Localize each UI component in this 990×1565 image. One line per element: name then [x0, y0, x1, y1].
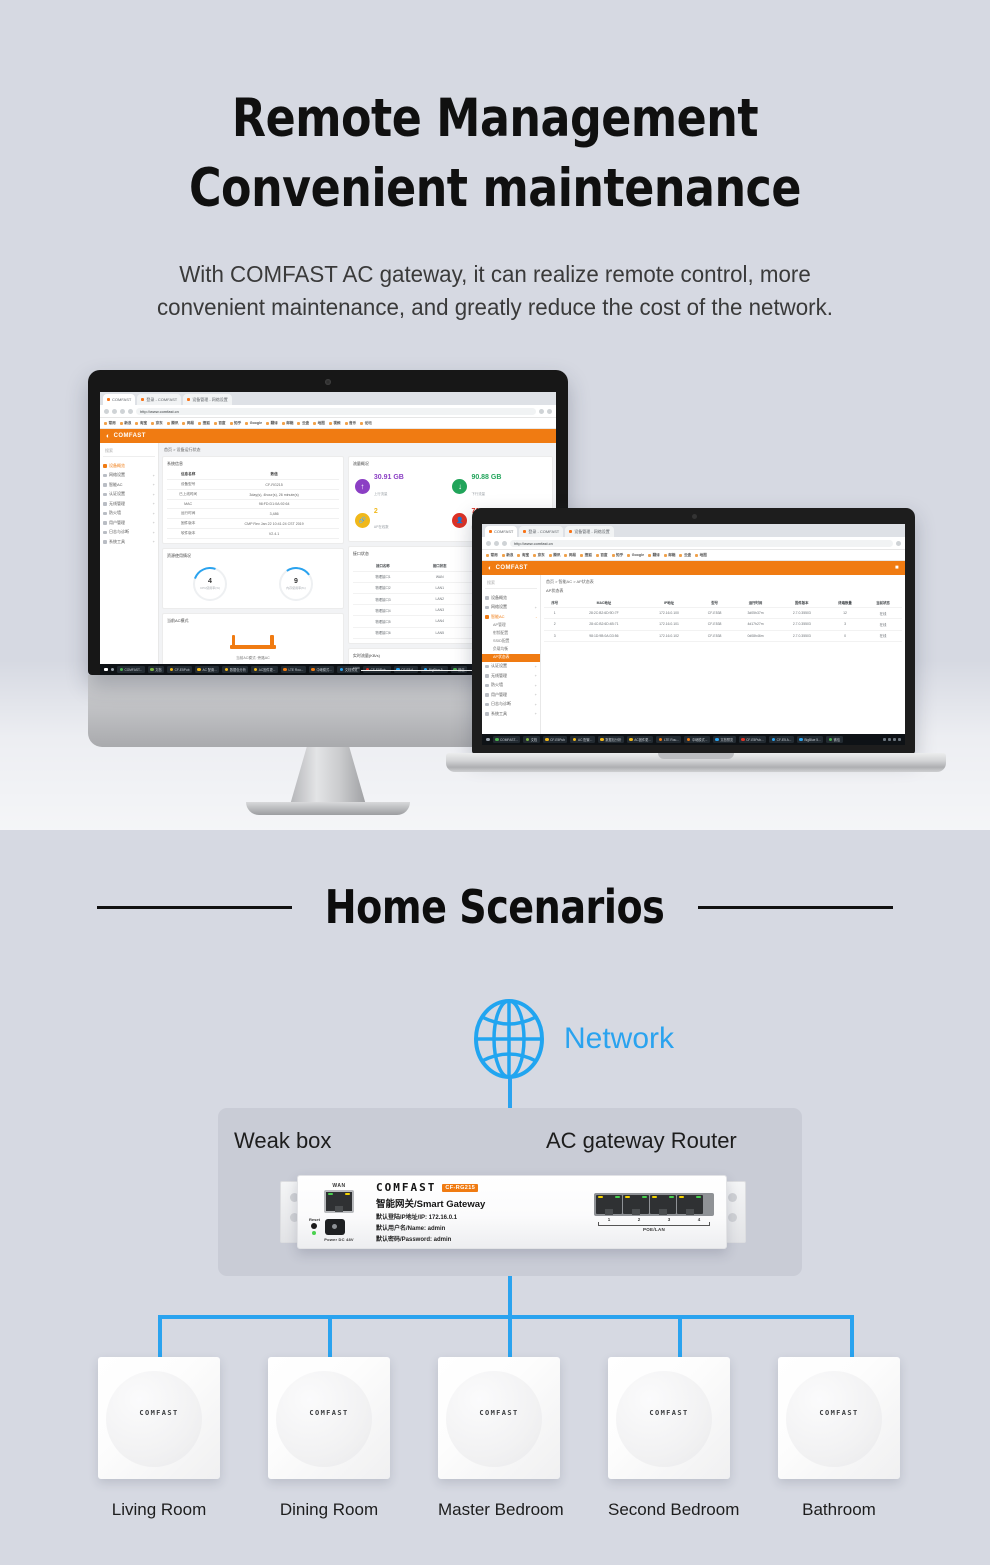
bookmark-item[interactable]: 百度: [596, 553, 608, 558]
overview-icon: [103, 464, 107, 468]
ap-room-label: Master Bedroom: [438, 1500, 560, 1520]
laptop-base: [446, 753, 946, 772]
stat-label: 下行流量: [471, 492, 485, 496]
app-sidebar: 搜索 设备概览 网络设置 +: [100, 443, 159, 664]
chevron-down-icon: +: [153, 520, 155, 525]
access-point-second-bedroom: COMFAST Second Bedroom: [608, 1357, 730, 1520]
bookmark-icon: [517, 554, 520, 557]
sidebar-item-firewall[interactable]: 防火墙 +: [482, 681, 540, 691]
led-green-icon: [615, 1196, 620, 1199]
led-green-icon: [328, 1193, 333, 1196]
bookmark-item[interactable]: 腾讯: [549, 553, 561, 558]
app-header: ◐ COMFAST: [100, 429, 556, 443]
breadcrumb: 首页 > 设备运行状态: [164, 447, 553, 453]
cpu-gauge: 4 CPU使用率(%): [193, 567, 227, 601]
sidebar-item-users[interactable]: 用户管理 +: [482, 690, 540, 700]
access-point-master-bedroom: COMFAST Master Bedroom: [438, 1357, 560, 1520]
bookmark-icon: [135, 422, 138, 425]
sidebar-item-tools[interactable]: 系统工具 +: [482, 709, 540, 719]
bookmark-item[interactable]: 邮箱: [664, 553, 676, 558]
address-bar-value: http://www.comfast.cn: [140, 409, 179, 414]
sidebar-item-overview[interactable]: 设备概览: [482, 593, 540, 603]
router-default-ip: 默认登陆IP地址/IP: 172.16.0.1: [376, 1212, 594, 1221]
bookmark-item[interactable]: 地图: [695, 553, 707, 558]
app-brand-label: COMFAST: [114, 433, 146, 439]
log-icon: [103, 531, 107, 535]
globe-icon: [472, 998, 546, 1080]
taskbar-item[interactable]: BigBlue 5...: [797, 736, 823, 744]
page-root: Remote Management Convenient maintenance…: [0, 0, 990, 1565]
tree-drop-line-3: [508, 1315, 512, 1360]
dc-power-jack: [325, 1219, 345, 1235]
ap-panel: COMFAST: [438, 1357, 560, 1479]
bookmark-icon: [120, 422, 123, 425]
rack-hole-icon: [728, 1213, 737, 1222]
taskbar-item[interactable]: COMFAST...: [493, 736, 521, 744]
column-header: IP地址: [642, 597, 695, 608]
ac-icon: [103, 483, 107, 487]
column-header: 终端数量: [826, 597, 864, 608]
bookmark-icon: [664, 554, 667, 557]
bookmark-icon: [564, 554, 567, 557]
reset-button[interactable]: [311, 1223, 317, 1229]
bookmark-item[interactable]: 翻译: [648, 553, 660, 558]
stat-ap-online: 🔗 2 AP在线数: [353, 504, 451, 538]
sidebar-item-label: 网络设置: [109, 472, 125, 478]
sidebar-item-wireless[interactable]: 无线管理 +: [482, 671, 540, 681]
bookmark-item[interactable]: 淘宝: [135, 421, 147, 426]
taskbar-item[interactable]: LTE Rou...: [656, 736, 681, 744]
sidebar-item-smart-ac[interactable]: 智能AC +: [100, 480, 158, 490]
bookmark-item[interactable]: 搜狐: [198, 421, 210, 426]
address-bar-value: http://www.comfast.cn: [514, 541, 553, 546]
table-row: 228:4C:B2:6D:4B:71 172.16.0.101CF-E538 4…: [544, 619, 902, 630]
bookmark-item[interactable]: 网易: [182, 421, 194, 426]
shield-icon: [103, 512, 107, 516]
bookmark-item[interactable]: 淘宝: [517, 553, 529, 558]
bookmark-icon: [151, 422, 154, 425]
device-showcase: COMFAST 登录 - COMFAST 设备管理 - 网络设置: [0, 360, 990, 830]
stat-value: 90.88 GB: [471, 474, 501, 482]
breadcrumb: 首页 > 智能AC > AP状态表: [546, 579, 902, 585]
bookmark-icon: [345, 422, 348, 425]
ap-panel: COMFAST: [268, 1357, 390, 1479]
app-header: ◐ COMFAST ■: [482, 561, 905, 575]
app-body: 搜索 设备概览 网络设置 +: [482, 575, 905, 734]
sidebar-item-label: 设备概览: [109, 463, 125, 469]
sidebar-item-label: 网络设置: [491, 604, 507, 610]
ac-gateway-router-label: AC gateway Router: [546, 1128, 737, 1154]
address-bar[interactable]: http://www.comfast.cn: [510, 540, 893, 547]
taskbar-item[interactable]: LTE Rou...: [281, 666, 306, 674]
browser-tab-label: 登录 - COMFAST: [146, 397, 177, 403]
menu-icon[interactable]: [896, 541, 901, 546]
user-icon: [103, 521, 107, 525]
user-icon: [485, 693, 489, 697]
browser-tab-label: 设备管理 - 网络设置: [192, 397, 228, 403]
lan-bracket-icon: [598, 1222, 710, 1226]
laptop: COMFAST 登录 - COMFAST 设备管理 - 网络设置: [446, 508, 946, 772]
taskbar-item[interactable]: AC固件更...: [251, 666, 278, 674]
access-point-dining-room: COMFAST Dining Room: [268, 1357, 390, 1520]
bookmark-icon: [198, 422, 201, 425]
sidebar-item-logs[interactable]: 日志与诊断 +: [482, 700, 540, 710]
webcam-icon: [692, 514, 697, 519]
gauge-arc: [276, 564, 315, 603]
ac-mode-diagram: 当前AC模式: 旁路AC: [167, 627, 339, 667]
page-subtitle: With COMFAST AC gateway, it can realize …: [68, 258, 922, 325]
browser-tab[interactable]: COMFAST: [103, 394, 135, 405]
bookmark-icon: [596, 554, 599, 557]
reload-icon[interactable]: [502, 541, 507, 546]
bookmark-item[interactable]: 翻译: [266, 421, 278, 426]
table-row: MAC98:FD:D1:0A:92:64: [167, 500, 339, 509]
memory-gauge: 9 内存使用率(%): [279, 567, 313, 601]
system-tray[interactable]: [883, 738, 901, 741]
ac-mode-caption: 当前AC模式: 旁路AC: [236, 656, 270, 661]
browser-tab[interactable]: COMFAST: [485, 526, 517, 537]
sidebar-item-label: 智能AC: [109, 482, 123, 488]
bookmark-icon: [695, 554, 698, 557]
sidebar-item-users[interactable]: 用户管理 +: [100, 518, 158, 528]
bookmark-item[interactable]: 知乎: [230, 421, 242, 426]
section-title: Home Scenarios: [325, 880, 665, 934]
port-status-title: 接口状态: [353, 551, 369, 557]
stat-download: ↓ 90.88 GB 下行流量: [450, 470, 548, 504]
bookmark-icon: [502, 554, 505, 557]
taskbar-item[interactable]: 文档: [523, 736, 539, 744]
ap-brand-label: COMFAST: [608, 1409, 730, 1417]
sidebar-subitem-ssid[interactable]: SSID配置: [482, 638, 540, 646]
ap-disc: [106, 1371, 202, 1467]
access-point-bathroom: COMFAST Bathroom: [778, 1357, 900, 1520]
chevron-down-icon: +: [535, 683, 537, 688]
table-row: 128:2C:B2:6D:9D:7F 172.16.0.100CF-E538 3…: [544, 608, 902, 619]
bookmark-icon: [214, 422, 217, 425]
taskbar-item[interactable]: 文档预览: [713, 736, 736, 744]
bookmark-icon: [297, 422, 300, 425]
browser-tab[interactable]: 登录 - COMFAST: [519, 526, 563, 537]
menu-icon[interactable]: [547, 409, 552, 414]
chevron-down-icon: +: [153, 501, 155, 506]
ap-brand-label: COMFAST: [438, 1409, 560, 1417]
laptop-lid: COMFAST 登录 - COMFAST 设备管理 - 网络设置: [472, 508, 915, 754]
wan-label: WAN: [308, 1183, 370, 1189]
power-led-icon: [312, 1231, 316, 1235]
lan-port: [596, 1195, 622, 1214]
sidebar-subitem-radio[interactable]: 射频配置: [482, 630, 540, 638]
system-info-title: 系统信息: [167, 461, 339, 467]
lan-port: [650, 1195, 676, 1214]
led-green-icon: [642, 1196, 647, 1199]
bookmark-icon: [580, 554, 583, 557]
sidebar-item-tools[interactable]: 系统工具 +: [100, 537, 158, 547]
y-axis-tick: 1000: [353, 666, 360, 670]
table-header-row: 信息名称 数值: [167, 470, 339, 480]
router-model-badge: CF-RG215: [442, 1184, 478, 1192]
lan-port-number: 2: [638, 1217, 641, 1222]
bookmarks-bar: 常用 新浪 淘宝 京东 腾讯 网易 搜狐 百度 知乎 Google 翻译 邮箱 …: [100, 418, 556, 429]
led-yellow-icon: [598, 1196, 603, 1199]
table-row: 已上线时间3day(s), 4hour(s), 26 minute(s): [167, 490, 339, 500]
profile-icon[interactable]: [539, 409, 544, 414]
desktop-browser-tabstrip: COMFAST 登录 - COMFAST 设备管理 - 网络设置: [100, 392, 556, 405]
search-icon[interactable]: [486, 736, 490, 744]
address-bar[interactable]: http://www.comfast.cn: [136, 408, 536, 415]
tree-trunk-line: [508, 1276, 512, 1318]
start-button[interactable]: [104, 666, 108, 674]
bookmarks-bar: 常用 新浪 淘宝 京东 腾讯 网易 搜狐 百度 知乎 Google 翻译 邮箱 …: [482, 550, 905, 561]
bookmark-icon: [313, 422, 316, 425]
bookmark-item[interactable]: 搜狐: [580, 553, 592, 558]
laptop-browser-toolbar: http://www.comfast.cn: [482, 537, 905, 550]
taskbar-item[interactable]: AC 配置...: [195, 666, 219, 674]
taskbar-item[interactable]: 中继模式...: [684, 736, 709, 744]
bookmark-item[interactable]: 音乐: [345, 421, 357, 426]
sidebar-item-label: 无线管理: [491, 673, 507, 679]
weak-box-label: Weak box: [234, 1128, 331, 1154]
router-title: 智能网关/Smart Gateway: [376, 1196, 594, 1210]
sidebar-item-label: 智能AC: [491, 614, 505, 620]
comfast-brand-label: COMFAST: [376, 1181, 436, 1194]
app-sidebar: 搜索 设备概览 网络设置 +: [482, 575, 541, 734]
search-icon[interactable]: [111, 666, 115, 674]
browser-tab[interactable]: 设备管理 - 网络设置: [565, 526, 614, 537]
laptop-notch: [658, 753, 734, 759]
column-header: 信息名称: [167, 470, 209, 480]
app-content: 首页 > 智能AC > AP状态表 AP状态表 序号 MAC地址 IP地址 型号…: [541, 575, 905, 734]
traffic-title: 流量概况: [353, 461, 548, 467]
bookmark-item[interactable]: 新浪: [120, 421, 132, 426]
column-header: 固件版本: [778, 597, 827, 608]
ap-status-title: AP状态表: [546, 588, 902, 594]
bookmark-icon: [360, 422, 363, 425]
wan-port: [324, 1190, 354, 1213]
ac-icon: [485, 615, 489, 619]
browser-tab[interactable]: 登录 - COMFAST: [137, 394, 181, 405]
sidebar-subitem-ap-status[interactable]: AP状态表: [482, 654, 540, 662]
taskbar-item[interactable]: AC固件更...: [627, 736, 654, 744]
laptop-browser-window: COMFAST 登录 - COMFAST 设备管理 - 网络设置: [482, 524, 905, 745]
tree-bus-line: [158, 1315, 854, 1319]
app-brand-label: COMFAST: [496, 565, 528, 571]
bookmark-item[interactable]: 云盘: [297, 421, 309, 426]
page-subtitle-line2: convenient maintenance, and greatly redu…: [157, 294, 833, 320]
router-default-password: 默认密码/Password: admin: [376, 1234, 594, 1243]
sidebar-item-label: 用户管理: [491, 692, 507, 698]
sidebar-item-logs[interactable]: 日志与诊断 +: [100, 528, 158, 538]
lan-port-number: 1: [608, 1217, 611, 1222]
page-title: Remote Management Convenient maintenance: [35, 84, 956, 224]
chevron-down-icon: +: [535, 692, 537, 697]
column-header: 序号: [544, 597, 565, 608]
lan-port-number: 4: [698, 1217, 701, 1222]
laptop-taskbar: COMFAST... 文档 CF-E5Pub AC 配置... 数据包分析 AC…: [482, 734, 905, 745]
log-icon: [485, 703, 489, 707]
ap-brand-label: COMFAST: [268, 1409, 390, 1417]
bookmark-item[interactable]: Google: [627, 553, 644, 557]
taskbar-item[interactable]: CF-E5Pub: [543, 736, 568, 744]
sidebar-item-label: 设备概览: [491, 595, 507, 601]
taskbar-item[interactable]: CF-E5 A...: [769, 736, 794, 744]
forward-icon[interactable]: [494, 541, 499, 546]
sidebar-subitem-ap-manage[interactable]: AP管理: [482, 622, 540, 630]
link-globe-to-router: [508, 1078, 512, 1110]
reload-icon[interactable]: [120, 409, 125, 414]
table-row: 设备型号CF-RG215: [167, 480, 339, 490]
home-icon[interactable]: [128, 409, 133, 414]
taskbar-item[interactable]: CF-E5Pub...: [739, 736, 767, 744]
page-subtitle-line1: With COMFAST AC gateway, it can realize …: [179, 261, 811, 287]
bookmark-item[interactable]: 云盘: [679, 553, 691, 558]
lan-port-group: [594, 1193, 714, 1216]
network-icon: [485, 606, 489, 610]
sidebar-search-input[interactable]: 搜索: [485, 580, 537, 589]
bookmark-item[interactable]: 京东: [151, 421, 163, 426]
column-header: 型号: [696, 597, 734, 608]
stat-value: 2: [374, 508, 389, 516]
bookmark-icon: [282, 422, 285, 425]
ap-disc: [786, 1371, 882, 1467]
ap-disc: [616, 1371, 712, 1467]
bookmark-item[interactable]: 网易: [564, 553, 576, 558]
stat-value: 30.91 GB: [374, 474, 404, 482]
router-brand-row: COMFAST CF-RG215: [376, 1181, 594, 1194]
bookmark-item[interactable]: 常用: [486, 553, 498, 558]
sidebar-search-input[interactable]: 搜索: [103, 448, 155, 457]
favicon-icon: [107, 398, 110, 401]
bookmark-item[interactable]: 邮箱: [282, 421, 294, 426]
favicon-icon: [141, 398, 144, 401]
bookmark-item[interactable]: 论坛: [360, 421, 372, 426]
taskbar-item[interactable]: 文档: [148, 666, 164, 674]
ap-panel: COMFAST: [778, 1357, 900, 1479]
reset-label: Reset: [309, 1217, 320, 1222]
table-row: 运行时间3,486: [167, 509, 339, 519]
sidebar-item-auth[interactable]: 认证设置 +: [100, 490, 158, 500]
stat-label: 上行流量: [374, 492, 388, 496]
wireless-icon: [485, 674, 489, 678]
resource-usage-title: 资源使用情况: [167, 553, 339, 559]
laptop-browser-tabstrip: COMFAST 登录 - COMFAST 设备管理 - 网络设置: [482, 524, 905, 537]
access-point-living-room: COMFAST Living Room: [98, 1357, 220, 1520]
taskbar-item[interactable]: 中继模式...: [309, 666, 334, 674]
webcam-icon: [325, 379, 331, 385]
close-icon[interactable]: ■: [895, 565, 899, 571]
bookmark-icon: [627, 554, 630, 557]
gauge-group: 4 CPU使用率(%) 9 内存使用率(%): [167, 562, 339, 604]
sidebar-item-smart-ac[interactable]: 智能AC -: [482, 612, 540, 622]
overview-icon: [485, 596, 489, 600]
bookmark-icon: [167, 422, 170, 425]
chevron-down-icon: +: [153, 473, 155, 478]
tree-drop-line-1: [158, 1315, 162, 1360]
desktop-browser-toolbar: http://www.comfast.cn: [100, 405, 556, 418]
column-header: 数值: [209, 470, 339, 480]
ac-mode-title: 当前AC模式: [167, 618, 339, 624]
taskbar-item[interactable]: CF-E5Pub: [167, 666, 192, 674]
system-info-table: 信息名称 数值 设备型号CF-RG215 已上线时间3day(s), 4hour…: [167, 470, 339, 539]
bookmark-item[interactable]: 百度: [214, 421, 226, 426]
dashboard-left-column: 系统信息 信息名称 数值 设备型号CF-RG215 已上线时间3day(s), …: [162, 456, 344, 675]
led-yellow-icon: [345, 1193, 350, 1196]
sidebar-item-network[interactable]: 网络设置 +: [100, 471, 158, 481]
sidebar-item-overview[interactable]: 设备概览: [100, 461, 158, 471]
bookmark-item[interactable]: 腾讯: [167, 421, 179, 426]
bookmark-item[interactable]: Google: [245, 421, 262, 425]
bookmark-icon: [549, 554, 552, 557]
sidebar-subitem-loadbalance[interactable]: 负载均衡: [482, 646, 540, 654]
back-icon[interactable]: [486, 541, 491, 546]
forward-icon[interactable]: [112, 409, 117, 414]
wireless-icon: [103, 502, 107, 506]
bookmark-item[interactable]: 视频: [329, 421, 341, 426]
bookmark-item[interactable]: 地图: [313, 421, 325, 426]
led-yellow-icon: [652, 1196, 657, 1199]
ap-brand-label: COMFAST: [98, 1409, 220, 1417]
browser-tab[interactable]: 设备管理 - 网络设置: [183, 394, 232, 405]
taskbar-item[interactable]: AC 配置...: [570, 736, 594, 744]
bookmark-item[interactable]: 知乎: [612, 553, 624, 558]
led-green-icon: [669, 1196, 674, 1199]
chevron-down-icon: +: [153, 530, 155, 535]
dc-label: DC 48V: [339, 1237, 354, 1242]
chevron-down-icon: +: [535, 673, 537, 678]
gear-icon: [103, 540, 107, 544]
sidebar-item-wireless[interactable]: 无线管理 +: [100, 499, 158, 509]
monitor-stand-foot: [246, 802, 410, 815]
back-icon[interactable]: [104, 409, 109, 414]
bookmark-icon: [533, 554, 536, 557]
bookmark-icon: [612, 554, 615, 557]
comfast-mark-icon: ◐: [488, 565, 493, 572]
browser-tab-label: 登录 - COMFAST: [528, 529, 559, 535]
shield-icon: [485, 684, 489, 688]
ap-status-table: 序号 MAC地址 IP地址 型号 运行时间 固件版本 终端数量 当前状态: [544, 597, 902, 642]
bookmark-item[interactable]: 新浪: [502, 553, 514, 558]
taskbar-item[interactable]: 数据包分析: [598, 736, 624, 744]
chevron-down-icon: +: [153, 511, 155, 516]
power-label: Power: [324, 1237, 337, 1242]
taskbar-item[interactable]: 微信: [826, 736, 842, 744]
taskbar-item[interactable]: COMFAST...: [117, 666, 145, 674]
sidebar-item-auth[interactable]: 认证设置 +: [482, 662, 540, 672]
sidebar-item-firewall[interactable]: 防火墙 +: [100, 509, 158, 519]
bookmark-icon: [245, 422, 248, 425]
bookmark-icon: [329, 422, 332, 425]
router-wan-section: WAN Reset Power DC 48V: [298, 1183, 370, 1242]
router-label-section: COMFAST CF-RG215 智能网关/Smart Gateway 默认登陆…: [370, 1181, 594, 1243]
bookmark-icon: [104, 422, 107, 425]
ap-room-label: Living Room: [98, 1500, 220, 1520]
sidebar-item-label: 认证设置: [491, 663, 507, 669]
hero-section: Remote Management Convenient maintenance…: [0, 0, 990, 325]
bookmark-icon: [679, 554, 682, 557]
sidebar-item-network[interactable]: 网络设置 +: [482, 603, 540, 613]
sidebar-item-label: 日志与诊断: [109, 529, 129, 535]
bookmark-item[interactable]: 京东: [533, 553, 545, 558]
taskbar-item[interactable]: 数据包分析: [222, 666, 248, 674]
ap-disc: [276, 1371, 372, 1467]
lan-port: [623, 1195, 649, 1214]
bookmark-item[interactable]: 常用: [104, 421, 116, 426]
rj45-tab-icon: [686, 1209, 694, 1215]
download-arrow-icon: ↓: [452, 479, 467, 494]
bookmark-icon: [182, 422, 185, 425]
rj45-tab-icon: [632, 1209, 640, 1215]
ap-brand-label: COMFAST: [778, 1409, 900, 1417]
gauge-arc: [187, 561, 232, 606]
